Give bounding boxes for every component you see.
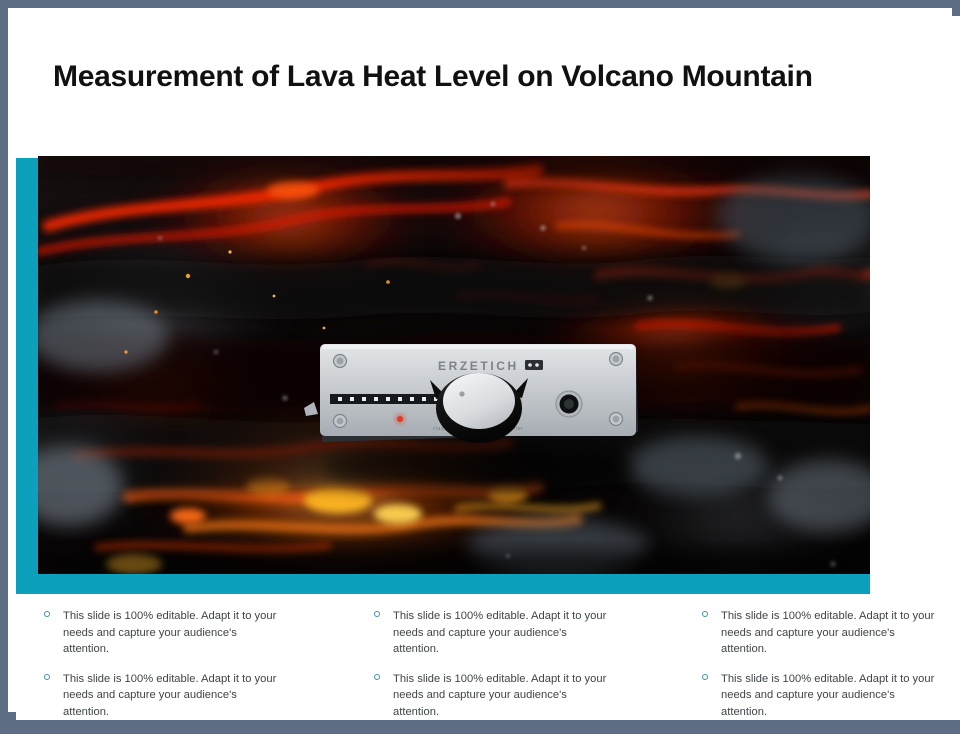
page-title: Measurement of Lava Heat Level on Volcan… [53, 60, 933, 94]
slide-frame: Measurement of Lava Heat Level on Volcan… [0, 0, 960, 720]
amplifier-device: ERZETICH [304, 344, 638, 496]
list-item-text: This slide is 100% editable. Adapt it to… [721, 610, 934, 655]
list-item-text: This slide is 100% editable. Adapt it to… [393, 673, 606, 718]
list-item: This slide is 100% editable. Adapt it to… [38, 671, 278, 721]
list-item: This slide is 100% editable. Adapt it to… [696, 608, 936, 658]
hollow-circle-bullet-icon [702, 611, 708, 617]
bullet-section: This slide is 100% editable. Adapt it to… [16, 602, 960, 720]
list-item: This slide is 100% editable. Adapt it to… [696, 671, 936, 721]
hollow-circle-bullet-icon [44, 611, 50, 617]
hollow-circle-bullet-icon [702, 674, 708, 680]
lava-photo-artwork: ERZETICH [38, 156, 870, 574]
hollow-circle-bullet-icon [374, 674, 380, 680]
list-item: This slide is 100% editable. Adapt it to… [368, 608, 608, 658]
bullet-column-2: This slide is 100% editable. Adapt it to… [368, 608, 668, 734]
list-item-text: This slide is 100% editable. Adapt it to… [393, 610, 606, 655]
list-item: This slide is 100% editable. Adapt it to… [38, 608, 278, 658]
slide-canvas: Measurement of Lava Heat Level on Volcan… [16, 16, 960, 720]
list-item-text: This slide is 100% editable. Adapt it to… [721, 673, 934, 718]
title-band: Measurement of Lava Heat Level on Volcan… [16, 16, 960, 148]
hollow-circle-bullet-icon [44, 674, 50, 680]
list-item-text: This slide is 100% editable. Adapt it to… [63, 610, 276, 655]
list-item-text: This slide is 100% editable. Adapt it to… [63, 673, 276, 718]
bullet-column-3: This slide is 100% editable. Adapt it to… [696, 608, 960, 734]
svg-text:ERZETICH: ERZETICH [438, 359, 519, 373]
list-item: This slide is 100% editable. Adapt it to… [368, 671, 608, 721]
hollow-circle-bullet-icon [374, 611, 380, 617]
lava-photo: ERZETICH [38, 156, 870, 574]
bullet-column-1: This slide is 100% editable. Adapt it to… [38, 608, 338, 734]
